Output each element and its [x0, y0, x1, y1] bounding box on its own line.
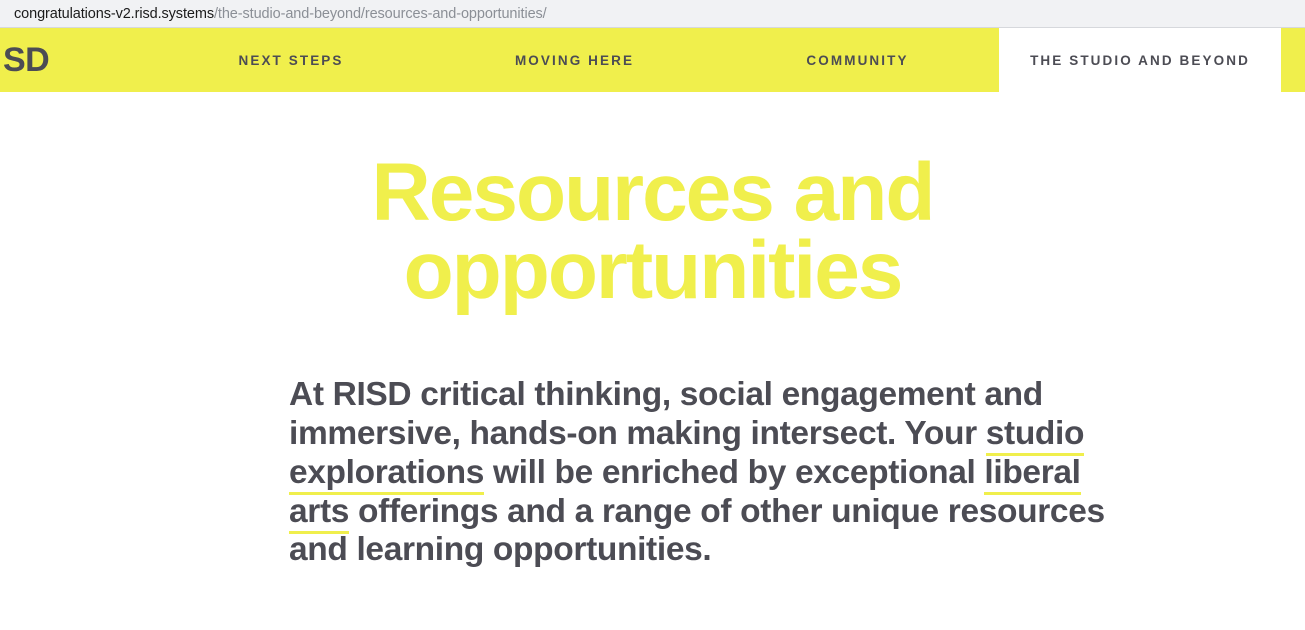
page-content: Resources and opportunities At RISD crit… [0, 92, 1305, 630]
nav-item-moving-here[interactable]: MOVING HERE [487, 28, 662, 92]
url-path: /the-studio-and-beyond/resources-and-opp… [214, 6, 547, 22]
browser-address-bar[interactable]: congratulations-v2.risd.systems/the-stud… [0, 0, 1305, 28]
nav-item-community[interactable]: COMMUNITY [780, 28, 935, 92]
url-domain: congratulations-v2.risd.systems [14, 6, 214, 22]
site-navigation: SD NEXT STEPS MOVING HERE COMMUNITY THE … [0, 28, 1305, 92]
lede-text-part-3: offerings and a range of other unique re… [289, 493, 1105, 569]
lede-paragraph: At RISD critical thinking, social engage… [289, 376, 1144, 570]
lede-text-part-1: At RISD critical thinking, social engage… [289, 376, 1043, 452]
risd-logo[interactable]: SD [3, 43, 49, 77]
page-title: Resources and opportunities [0, 154, 1305, 310]
nav-item-next-steps[interactable]: NEXT STEPS [210, 28, 372, 92]
lede-text-part-2: will be enriched by exceptional [484, 454, 984, 491]
nav-item-the-studio-and-beyond[interactable]: THE STUDIO AND BEYOND [999, 28, 1281, 92]
